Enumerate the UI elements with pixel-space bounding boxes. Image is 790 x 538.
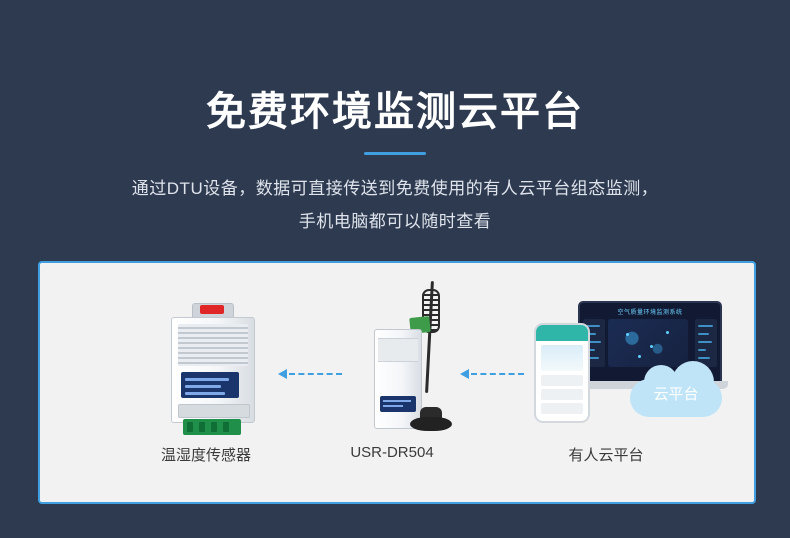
sensor-led-icon [200, 305, 224, 314]
arrow-line [471, 373, 524, 375]
phone-list-row [541, 389, 583, 400]
dashboard-map [608, 319, 688, 367]
dtu-vent-band [378, 338, 418, 362]
sensor-vents [178, 324, 248, 366]
laptop-screen-title: 空气质量环境监测系统 [580, 307, 720, 316]
temperature-humidity-sensor-icon [171, 303, 253, 435]
phone-app-header [536, 325, 588, 341]
connector-pin [223, 422, 229, 432]
subtitle-line-1: 通过DTU设备，数据可直接传送到免费使用的有人云平台组态监测， [0, 172, 790, 205]
arrow-head-icon [278, 369, 287, 379]
dtu-label-line [383, 400, 411, 402]
map-point [666, 331, 669, 334]
panel-bar [698, 357, 710, 359]
arrow-line [289, 373, 342, 375]
connector-pin [187, 422, 193, 432]
caption-dtu: USR-DR504 [292, 444, 492, 461]
subtitle-line-2: 手机电脑都可以随时查看 [0, 205, 790, 238]
sensor-terminal-row [178, 404, 250, 418]
dtu-device-icon [352, 281, 472, 437]
antenna-magnet-base [410, 417, 452, 431]
sensor-label-plate [181, 372, 239, 398]
dtu-label-plate [380, 396, 416, 412]
page-title: 免费环境监测云平台 [0, 86, 790, 138]
sensor-green-connector [183, 419, 241, 435]
dashboard-right-panel [695, 319, 717, 367]
caption-cloud: 有人云平台 [506, 444, 706, 465]
promo-page: 免费环境监测云平台 通过DTU设备，数据可直接传送到免费使用的有人云平台组态监测… [0, 0, 790, 538]
panel-bar [698, 349, 706, 351]
phone-list-row [541, 403, 583, 414]
caption-sensor: 温湿度传感器 [116, 444, 296, 465]
sensor-label-line [185, 392, 225, 395]
diagram-panel: 空气质量环境监测系统 [38, 261, 756, 504]
panel-bar [698, 333, 709, 335]
phone-icon [534, 323, 590, 423]
sensor-label-line [185, 385, 221, 388]
arrow-head-icon [460, 369, 469, 379]
arrow-dtu-to-sensor [278, 368, 342, 380]
sensor-label-line [185, 378, 229, 381]
phone-chart [541, 345, 583, 371]
dtu-label-line [383, 405, 403, 407]
map-point [638, 355, 641, 358]
map-point [650, 345, 653, 348]
dtu-body [374, 329, 422, 429]
sensor-body [171, 317, 255, 423]
cloud-badge-label: 云平台 [630, 383, 722, 404]
phone-list-row [541, 375, 583, 386]
panel-bar [698, 341, 712, 343]
connector-pin [199, 422, 205, 432]
panel-bar [698, 325, 713, 327]
connector-pin [211, 422, 217, 432]
arrow-cloud-to-dtu [460, 368, 524, 380]
cloud-platform-icon: 空气质量环境监测系统 [534, 301, 724, 436]
page-subtitle: 通过DTU设备，数据可直接传送到免费使用的有人云平台组态监测， 手机电脑都可以随… [0, 172, 790, 238]
map-point [626, 333, 629, 336]
cloud-badge: 云平台 [630, 361, 722, 417]
title-divider [364, 152, 426, 155]
